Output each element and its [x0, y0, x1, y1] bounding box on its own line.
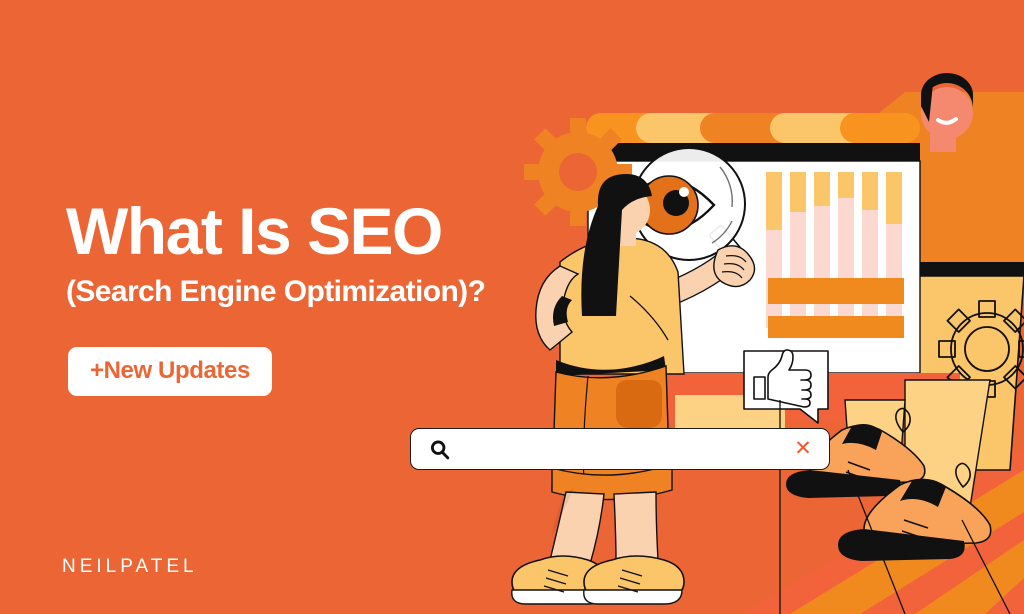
woman-top [560, 238, 684, 374]
new-updates-badge[interactable]: +New Updates [68, 347, 272, 396]
new-updates-badge-label: +New Updates [90, 357, 250, 385]
brand-logo: NEILPATEL [62, 556, 198, 578]
board-row-bar-2 [768, 316, 904, 338]
hero-banner: What Is SEO (Search Engine Optimization)… [0, 0, 1024, 614]
skirt-pocket [616, 380, 662, 428]
close-x-icon[interactable]: ✕ [793, 438, 813, 460]
board-row-bar-1 [768, 278, 904, 304]
woman-sneaker-right [584, 556, 684, 604]
board-header-bar [588, 143, 920, 161]
search-icon[interactable] [429, 439, 451, 461]
search-bar[interactable]: ✕ [410, 428, 830, 470]
eye-highlight [679, 187, 689, 197]
page-subtitle: (Search Engine Optimization)? [66, 277, 485, 307]
page-title: What Is SEO [66, 198, 442, 264]
board-top-stripes [586, 113, 920, 143]
